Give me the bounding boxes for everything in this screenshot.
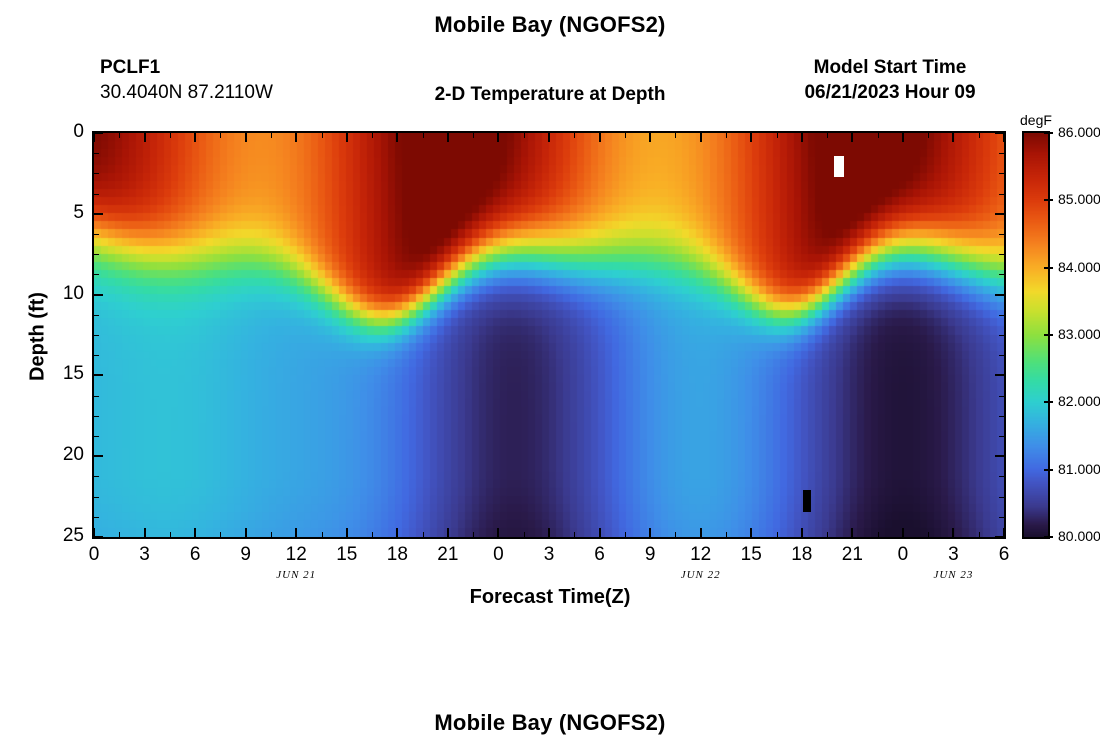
y-axis-minor-tick-right	[999, 355, 1004, 356]
y-axis-minor-tick-right	[999, 476, 1004, 477]
x-axis-tick-label: 3	[529, 544, 569, 566]
colorbar-tick-label: 86.000	[1058, 124, 1100, 140]
x-axis-tick-top	[952, 133, 954, 142]
colorbar-tick	[1044, 132, 1053, 134]
colorbar-tick	[1044, 199, 1053, 201]
x-axis-tick	[194, 528, 196, 537]
x-axis-minor-tick-top	[372, 133, 373, 138]
x-axis-minor-tick-top	[878, 133, 879, 138]
x-axis-tick-label: 3	[125, 544, 165, 566]
x-axis-minor-tick-top	[119, 133, 120, 138]
x-axis-minor-tick-top	[827, 133, 828, 138]
x-axis-tick-label: 3	[933, 544, 973, 566]
y-axis-minor-tick-right	[999, 396, 1004, 397]
x-axis-tick-top	[902, 133, 904, 142]
y-axis-minor-tick	[94, 254, 99, 255]
y-axis-minor-tick-right	[999, 497, 1004, 498]
y-axis-minor-tick-right	[999, 234, 1004, 235]
y-axis-minor-tick	[94, 234, 99, 235]
y-axis-minor-tick-right	[999, 194, 1004, 195]
y-axis-tick	[94, 536, 103, 538]
y-axis-tick-right	[995, 374, 1004, 376]
x-axis-date-label: JUN 22	[656, 569, 746, 581]
x-axis-tick	[902, 528, 904, 537]
x-axis-minor-tick-top	[726, 133, 727, 138]
x-axis-minor-tick-top	[220, 133, 221, 138]
y-axis-tick-label: 15	[44, 363, 84, 385]
x-axis-tick-label: 18	[377, 544, 417, 566]
x-axis-minor-tick-top	[170, 133, 171, 138]
x-axis-minor-tick	[979, 532, 980, 537]
x-axis-tick-top	[194, 133, 196, 142]
x-axis-title: Forecast Time(Z)	[0, 586, 1100, 609]
x-axis-tick	[700, 528, 702, 537]
x-axis-tick	[346, 528, 348, 537]
x-axis-tick-top	[447, 133, 449, 142]
y-axis-minor-tick	[94, 274, 99, 275]
y-axis-tick-right	[995, 455, 1004, 457]
x-axis-tick-top	[245, 133, 247, 142]
x-axis-tick-label: 12	[276, 544, 316, 566]
y-axis-minor-tick-right	[999, 335, 1004, 336]
x-axis-tick	[144, 528, 146, 537]
x-axis-tick	[245, 528, 247, 537]
x-axis-tick-label: 9	[226, 544, 266, 566]
x-axis-minor-tick	[372, 532, 373, 537]
x-axis-date-label: JUN 23	[908, 569, 998, 581]
model-start-header: Model Start Time 06/21/2023 Hour 09	[760, 56, 1020, 106]
colorbar-tick-label: 80.000	[1058, 528, 1100, 544]
y-axis-tick	[94, 132, 103, 134]
x-axis-tick-label: 0	[478, 544, 518, 566]
x-axis-tick-label: 15	[731, 544, 771, 566]
y-axis-minor-tick-right	[999, 517, 1004, 518]
y-axis-tick-right	[995, 213, 1004, 215]
colorbar-tick-label: 83.000	[1058, 326, 1100, 342]
station-id: PCLF1	[100, 56, 400, 80]
x-axis-minor-tick	[827, 532, 828, 537]
x-axis-tick	[447, 528, 449, 537]
y-axis-tick	[94, 294, 103, 296]
x-axis-tick	[750, 528, 752, 537]
y-axis-minor-tick-right	[999, 416, 1004, 417]
x-axis-tick	[801, 528, 803, 537]
x-axis-tick	[851, 528, 853, 537]
y-axis-minor-tick	[94, 396, 99, 397]
x-axis-tick-top	[1003, 133, 1005, 142]
x-axis-minor-tick	[271, 532, 272, 537]
y-axis-tick	[94, 213, 103, 215]
y-axis-minor-tick	[94, 517, 99, 518]
x-axis-tick-top	[497, 133, 499, 142]
y-axis-tick	[94, 455, 103, 457]
colorbar-tick	[1044, 469, 1053, 471]
x-axis-minor-tick-top	[574, 133, 575, 138]
x-axis-minor-tick	[675, 532, 676, 537]
x-axis-minor-tick-top	[423, 133, 424, 138]
x-axis-tick-top	[396, 133, 398, 142]
model-start-time: 06/21/2023 Hour 09	[760, 80, 1020, 106]
x-axis-tick	[295, 528, 297, 537]
y-axis-minor-tick	[94, 335, 99, 336]
page-title-bottom: Mobile Bay (NGOFS2)	[0, 710, 1100, 736]
x-axis-tick-label: 12	[681, 544, 721, 566]
x-axis-tick-top	[548, 133, 550, 142]
y-axis-minor-tick-right	[999, 274, 1004, 275]
x-axis-minor-tick	[777, 532, 778, 537]
x-axis-tick-label: 21	[832, 544, 872, 566]
y-axis-minor-tick-right	[999, 173, 1004, 174]
y-axis-tick-label: 20	[44, 444, 84, 466]
y-axis-minor-tick	[94, 497, 99, 498]
x-axis-minor-tick-top	[777, 133, 778, 138]
x-axis-tick	[649, 528, 651, 537]
x-axis-tick-top	[851, 133, 853, 142]
temperature-heatmap-canvas	[94, 133, 1004, 537]
y-axis-minor-tick-right	[999, 254, 1004, 255]
page-title-top: Mobile Bay (NGOFS2)	[0, 12, 1100, 38]
x-axis-tick-top	[649, 133, 651, 142]
x-axis-tick	[396, 528, 398, 537]
colorbar-tick	[1044, 401, 1053, 403]
model-start-label: Model Start Time	[760, 56, 1020, 80]
x-axis-minor-tick	[119, 532, 120, 537]
y-axis-minor-tick	[94, 173, 99, 174]
colorbar-tick-label: 81.000	[1058, 461, 1100, 477]
x-axis-minor-tick-top	[271, 133, 272, 138]
y-axis-tick-label: 5	[44, 202, 84, 224]
y-axis-minor-tick	[94, 416, 99, 417]
y-axis-tick	[94, 374, 103, 376]
x-axis-tick-top	[346, 133, 348, 142]
y-axis-title: Depth (ft)	[27, 277, 50, 397]
x-axis-date-label: JUN 21	[251, 569, 341, 581]
x-axis-minor-tick	[423, 532, 424, 537]
x-axis-tick-label: 6	[580, 544, 620, 566]
x-axis-minor-tick	[928, 532, 929, 537]
x-axis-minor-tick-top	[979, 133, 980, 138]
x-axis-minor-tick-top	[625, 133, 626, 138]
x-axis-tick-top	[750, 133, 752, 142]
y-axis-tick-label: 25	[44, 525, 84, 547]
y-axis-minor-tick	[94, 436, 99, 437]
x-axis-tick-top	[295, 133, 297, 142]
x-axis-minor-tick-top	[675, 133, 676, 138]
x-axis-tick-top	[93, 133, 95, 142]
x-axis-tick-label: 9	[630, 544, 670, 566]
y-axis-minor-tick-right	[999, 315, 1004, 316]
x-axis-minor-tick-top	[524, 133, 525, 138]
x-axis-minor-tick-top	[322, 133, 323, 138]
heatmap-plot-area	[92, 131, 1006, 539]
x-axis-tick-label: 0	[883, 544, 923, 566]
y-axis-minor-tick	[94, 476, 99, 477]
y-axis-minor-tick	[94, 315, 99, 316]
x-axis-tick	[599, 528, 601, 537]
x-axis-minor-tick	[524, 532, 525, 537]
x-axis-tick-label: 6	[175, 544, 215, 566]
colorbar-tick	[1044, 267, 1053, 269]
x-axis-minor-tick	[220, 532, 221, 537]
x-axis-tick-top	[700, 133, 702, 142]
y-axis-tick-label: 10	[44, 283, 84, 305]
y-axis-tick-right	[995, 132, 1004, 134]
x-axis-tick-label: 15	[327, 544, 367, 566]
white-gap-marker	[834, 156, 844, 177]
x-axis-tick-label: 18	[782, 544, 822, 566]
x-axis-tick-label: 0	[74, 544, 114, 566]
x-axis-tick-label: 21	[428, 544, 468, 566]
x-axis-minor-tick-top	[473, 133, 474, 138]
colorbar-tick	[1044, 536, 1053, 538]
x-axis-minor-tick	[726, 532, 727, 537]
colorbar-tick-label: 84.000	[1058, 259, 1100, 275]
x-axis-minor-tick	[878, 532, 879, 537]
y-axis-minor-tick	[94, 355, 99, 356]
x-axis-tick-top	[599, 133, 601, 142]
y-axis-minor-tick-right	[999, 153, 1004, 154]
y-axis-tick-right	[995, 536, 1004, 538]
y-axis-tick-right	[995, 294, 1004, 296]
colorbar-tick-label: 82.000	[1058, 393, 1100, 409]
x-axis-minor-tick-top	[928, 133, 929, 138]
colorbar-tick	[1044, 334, 1053, 336]
x-axis-minor-tick	[625, 532, 626, 537]
y-axis-minor-tick	[94, 194, 99, 195]
y-axis-minor-tick-right	[999, 436, 1004, 437]
colorbar-tick-label: 85.000	[1058, 191, 1100, 207]
colorbar-units-label: degF	[1020, 112, 1052, 128]
x-axis-tick-top	[144, 133, 146, 142]
x-axis-tick-label: 6	[984, 544, 1024, 566]
x-axis-tick-top	[801, 133, 803, 142]
x-axis-minor-tick	[473, 532, 474, 537]
y-axis-minor-tick	[94, 153, 99, 154]
x-axis-minor-tick	[170, 532, 171, 537]
black-gap-marker	[803, 490, 811, 512]
x-axis-tick	[497, 528, 499, 537]
y-axis-tick-label: 0	[44, 121, 84, 143]
x-axis-minor-tick	[322, 532, 323, 537]
plot-subtitle: 2-D Temperature at Depth	[330, 84, 770, 106]
x-axis-tick	[548, 528, 550, 537]
x-axis-minor-tick	[574, 532, 575, 537]
x-axis-tick	[952, 528, 954, 537]
